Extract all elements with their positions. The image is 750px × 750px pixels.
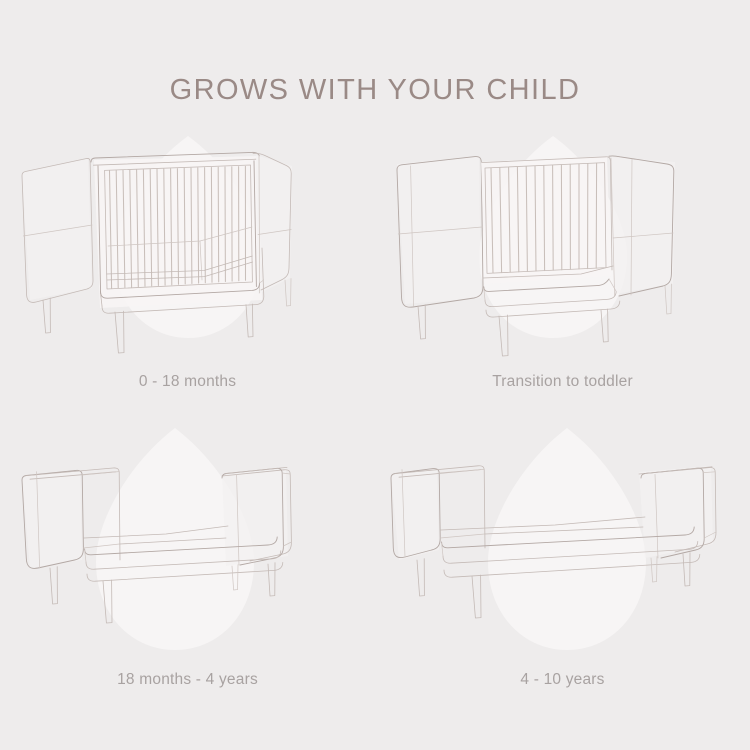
crib-front-rail-removed-illustration bbox=[375, 128, 750, 368]
stage-toddler-bed[interactable]: 18 months - 4 years bbox=[0, 418, 375, 708]
stage-crib[interactable]: 0 - 18 months bbox=[0, 128, 375, 418]
stage-caption: 0 - 18 months bbox=[0, 373, 375, 391]
page-title: GROWS WITH YOUR CHILD bbox=[0, 74, 750, 107]
product-stage-diagram: GROWS WITH YOUR CHILD bbox=[0, 0, 750, 750]
background-blob bbox=[488, 428, 646, 650]
toddler-bed-two-end-panels-illustration bbox=[0, 418, 375, 658]
stage-grid: 0 - 18 months bbox=[0, 128, 750, 728]
stage-caption: Transition to toddler bbox=[375, 373, 750, 391]
stage-full-bed[interactable]: 4 - 10 years bbox=[375, 418, 750, 708]
stage-toddler-transition[interactable]: Transition to toddler bbox=[375, 128, 750, 418]
full-size-bed-low-end-panels-illustration bbox=[375, 418, 750, 658]
stage-caption: 4 - 10 years bbox=[375, 671, 750, 689]
crib-with-full-slat-rail-illustration bbox=[0, 128, 375, 368]
stage-caption: 18 months - 4 years bbox=[0, 671, 375, 689]
